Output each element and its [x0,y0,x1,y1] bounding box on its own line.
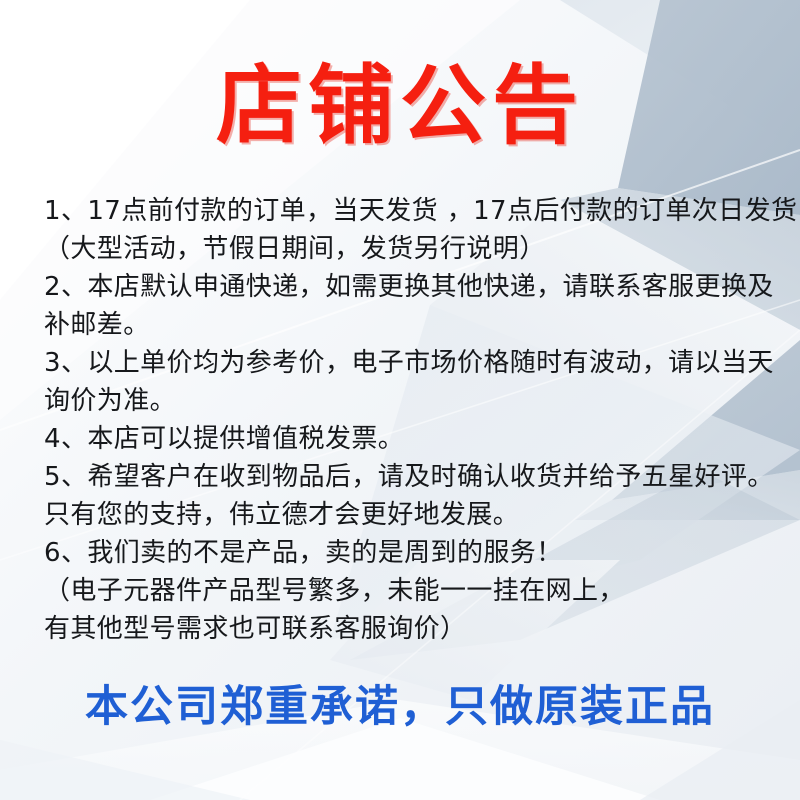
announcement-line: 有其他型号需求也可联系客服询价） [44,610,786,648]
announcement-body: 1、17点前付款的订单，当天发货 ，17点后付款的订单次日发货 （大型活动，节假… [44,192,786,648]
slogan-wrapper: 本公司郑重承诺，只做原装正品 [0,672,800,734]
announcement-line: 6、我们卖的不是产品，卖的是周到的服务！ [44,534,786,572]
announcement-line: 3、以上单价均为参考价，电子市场价格随时有波动，请以当天 [44,344,786,382]
announcement-line: 补邮差。 [44,306,786,344]
announcement-line: 5、希望客户在收到物品后，请及时确认收货并给予五星好评。 [44,458,786,496]
company-slogan: 本公司郑重承诺，只做原装正品 [85,672,715,734]
announcement-line: 只有您的支持，伟立德才会更好地发展。 [44,496,786,534]
announcement-line: 询价为准。 [44,382,786,420]
announcement-line: （大型活动，节假日期间，发货另行说明） [44,230,786,268]
poster-title-wrapper: 店铺公告 [0,58,800,154]
announcement-line: 4、本店可以提供增值税发票。 [44,420,786,458]
announcement-line: （电子元器件产品型号繁多，未能一一挂在网上， [44,572,786,610]
announcement-line: 1、17点前付款的订单，当天发货 ，17点后付款的订单次日发货 [44,192,786,230]
store-announcement-poster: 店铺公告 1、17点前付款的订单，当天发货 ，17点后付款的订单次日发货 （大型… [0,0,800,800]
announcement-line: 2、本店默认申通快递，如需更换其他快递，请联系客服更换及 [44,268,786,306]
page-title: 店铺公告 [216,58,584,154]
